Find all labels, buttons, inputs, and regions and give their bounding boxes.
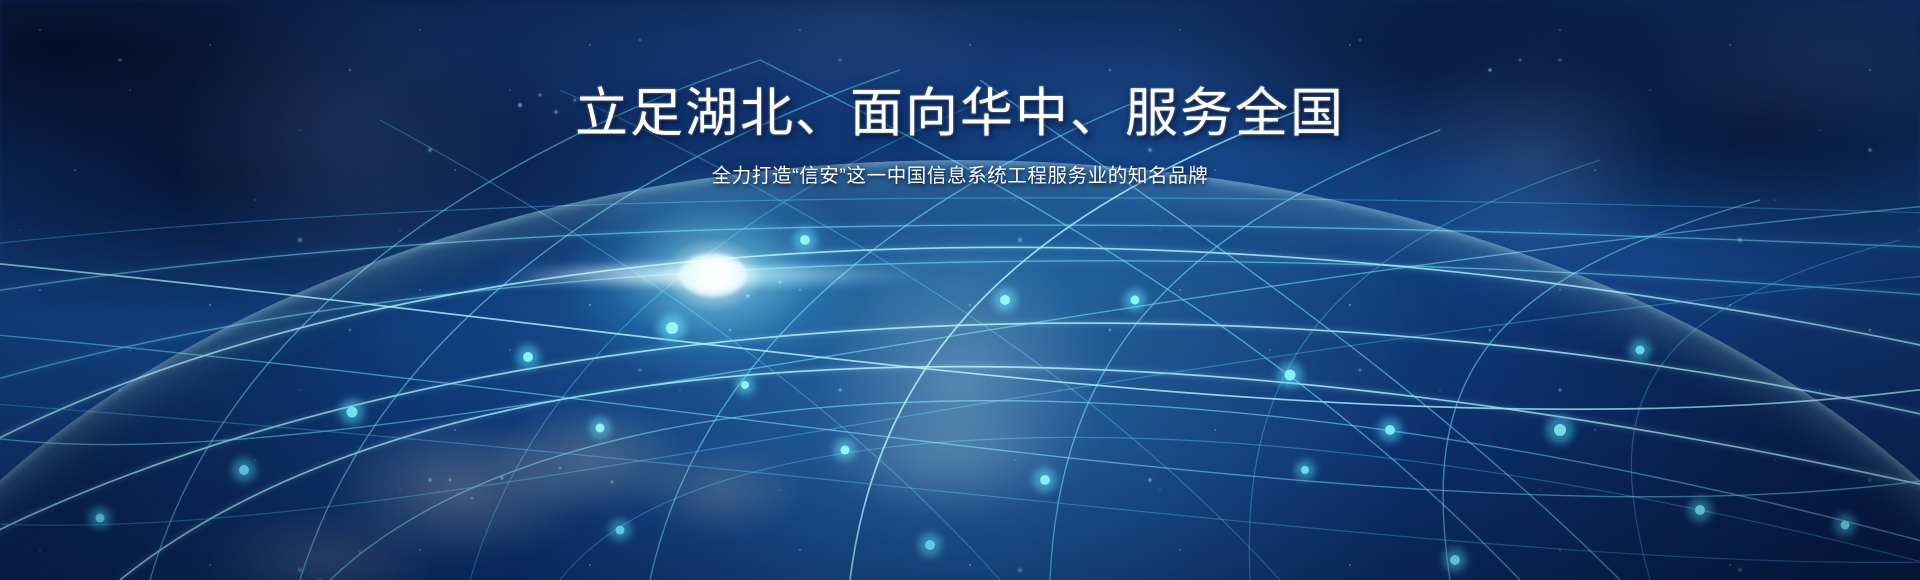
network-node-group — [89, 228, 1856, 572]
banner-headline: 立足湖北、面向华中、服务全国 — [0, 86, 1920, 142]
banner-subheadline: 全力打造“信安”这一中国信息系统工程服务业的知名品牌 — [0, 164, 1920, 189]
banner-copy: 立足湖北、面向华中、服务全国 全力打造“信安”这一中国信息系统工程服务业的知名品… — [0, 86, 1920, 189]
network-glow-layer — [0, 225, 1920, 580]
light-burst-core — [679, 253, 747, 297]
hero-banner: 立足湖北、面向华中、服务全国 全力打造“信安”这一中国信息系统工程服务业的知名品… — [0, 0, 1920, 580]
